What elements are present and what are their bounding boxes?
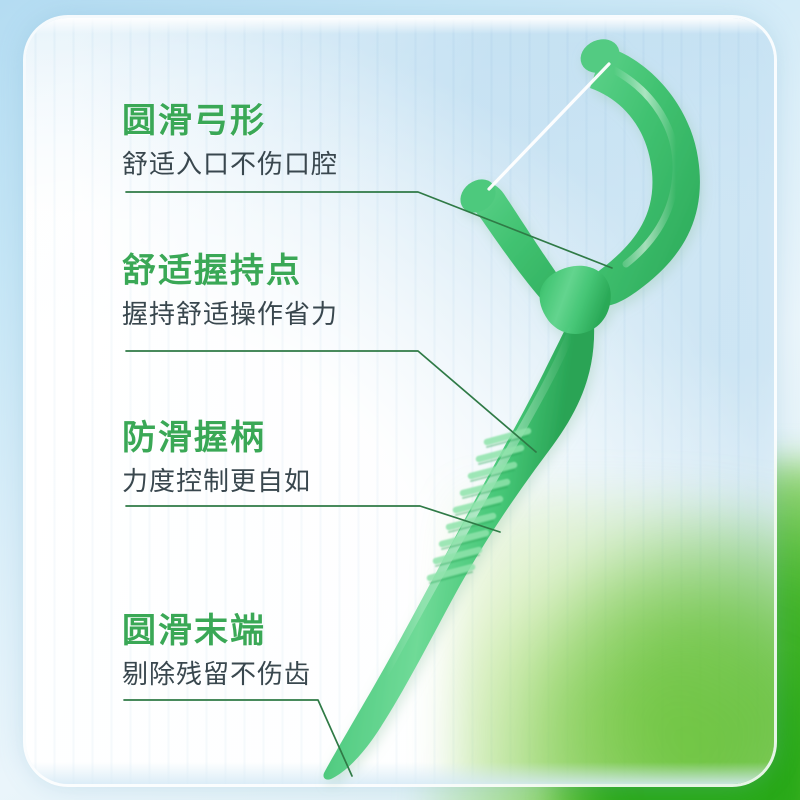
feature-subtitle: 力度控制更自如	[122, 467, 311, 496]
floss-thread	[489, 64, 609, 189]
feature-title: 圆滑末端	[122, 613, 311, 650]
feature-block-smooth-bow: 圆滑弓形 舒适入口不伤口腔	[122, 103, 338, 178]
feature-block-anti-slip-handle: 防滑握柄 力度控制更自如	[122, 420, 311, 495]
feature-title: 防滑握柄	[122, 420, 311, 457]
feature-subtitle: 剔除残留不伤齿	[122, 660, 311, 689]
feature-subtitle: 舒适入口不伤口腔	[122, 150, 338, 179]
feature-title: 圆滑弓形	[122, 103, 338, 140]
poster-canvas: 圆滑弓形 舒适入口不伤口腔 舒适握持点 握持舒适操作省力 防滑握柄 力度控制更自…	[0, 0, 800, 800]
floss-pick-illustration	[0, 0, 800, 800]
pick-bow-right-arm	[586, 46, 699, 306]
feature-subtitle: 握持舒适操作省力	[122, 300, 338, 329]
pick-fork-junction	[540, 266, 611, 334]
feature-block-smooth-tip: 圆滑末端 剔除残留不伤齿	[122, 613, 311, 688]
feature-block-comfort-grip-point: 舒适握持点 握持舒适操作省力	[122, 253, 338, 328]
feature-title: 舒适握持点	[122, 253, 338, 290]
